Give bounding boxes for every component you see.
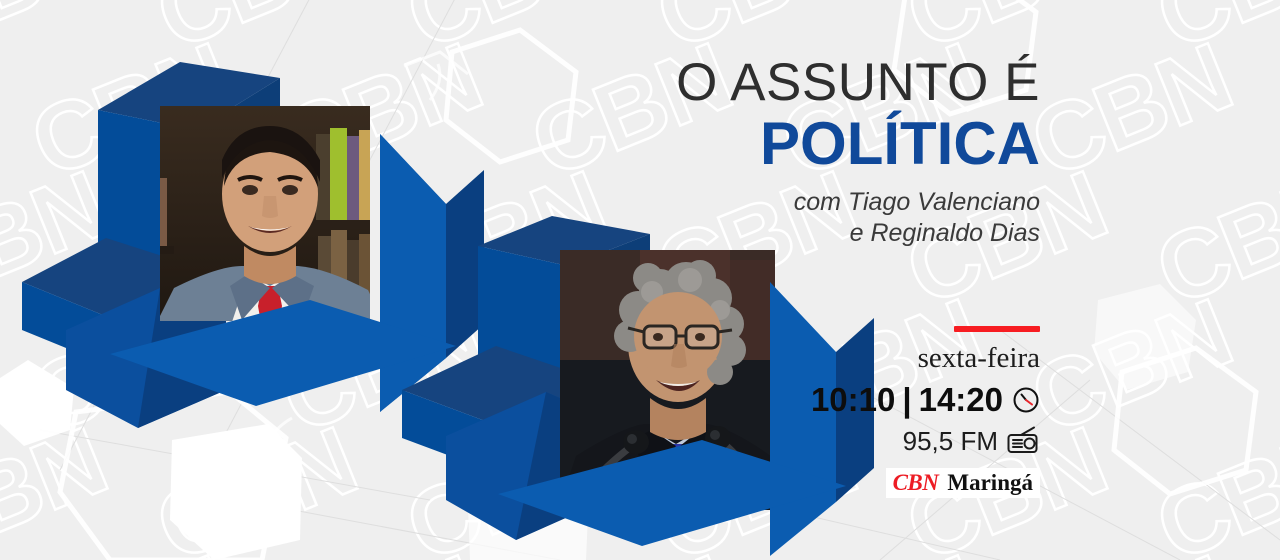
time-separator: | (902, 383, 911, 416)
broadcast-time-second: 14:20 (919, 383, 1003, 416)
frequency-label: 95,5 FM (903, 428, 998, 454)
broadcast-times: 10:10 | 14:20 (811, 383, 1040, 416)
broadcast-time-first: 10:10 (811, 383, 895, 416)
program-title-line-2: POLÍTICA (676, 112, 1040, 175)
radio-icon (1006, 426, 1040, 456)
program-title-line-1: O ASSUNTO É (676, 56, 1040, 110)
program-title-block: O ASSUNTO É POLÍTICA com Tiago Valencian… (676, 56, 1040, 248)
host-line-2: e Reginaldo Dias (676, 218, 1040, 249)
radio-program-banner: CBNCBNCBNCBNCBNCBNCBNCBNCBNCBNCBNCBNCBNC… (0, 0, 1280, 560)
clock-icon (1012, 386, 1040, 414)
station-city: Maringá (947, 471, 1033, 494)
host-line-1: com Tiago Valenciano (676, 187, 1040, 218)
schedule-block: sexta-feira 10:10 | 14:20 95,5 FM (811, 326, 1040, 498)
broadcast-frequency: 95,5 FM (811, 426, 1040, 456)
accent-bar (954, 326, 1040, 332)
program-hosts-line: com Tiago Valenciano e Reginaldo Dias (676, 187, 1040, 248)
station-brand: CBN (893, 471, 939, 494)
station-logo: CBN Maringá (886, 468, 1040, 498)
broadcast-day: sexta-feira (811, 344, 1040, 373)
